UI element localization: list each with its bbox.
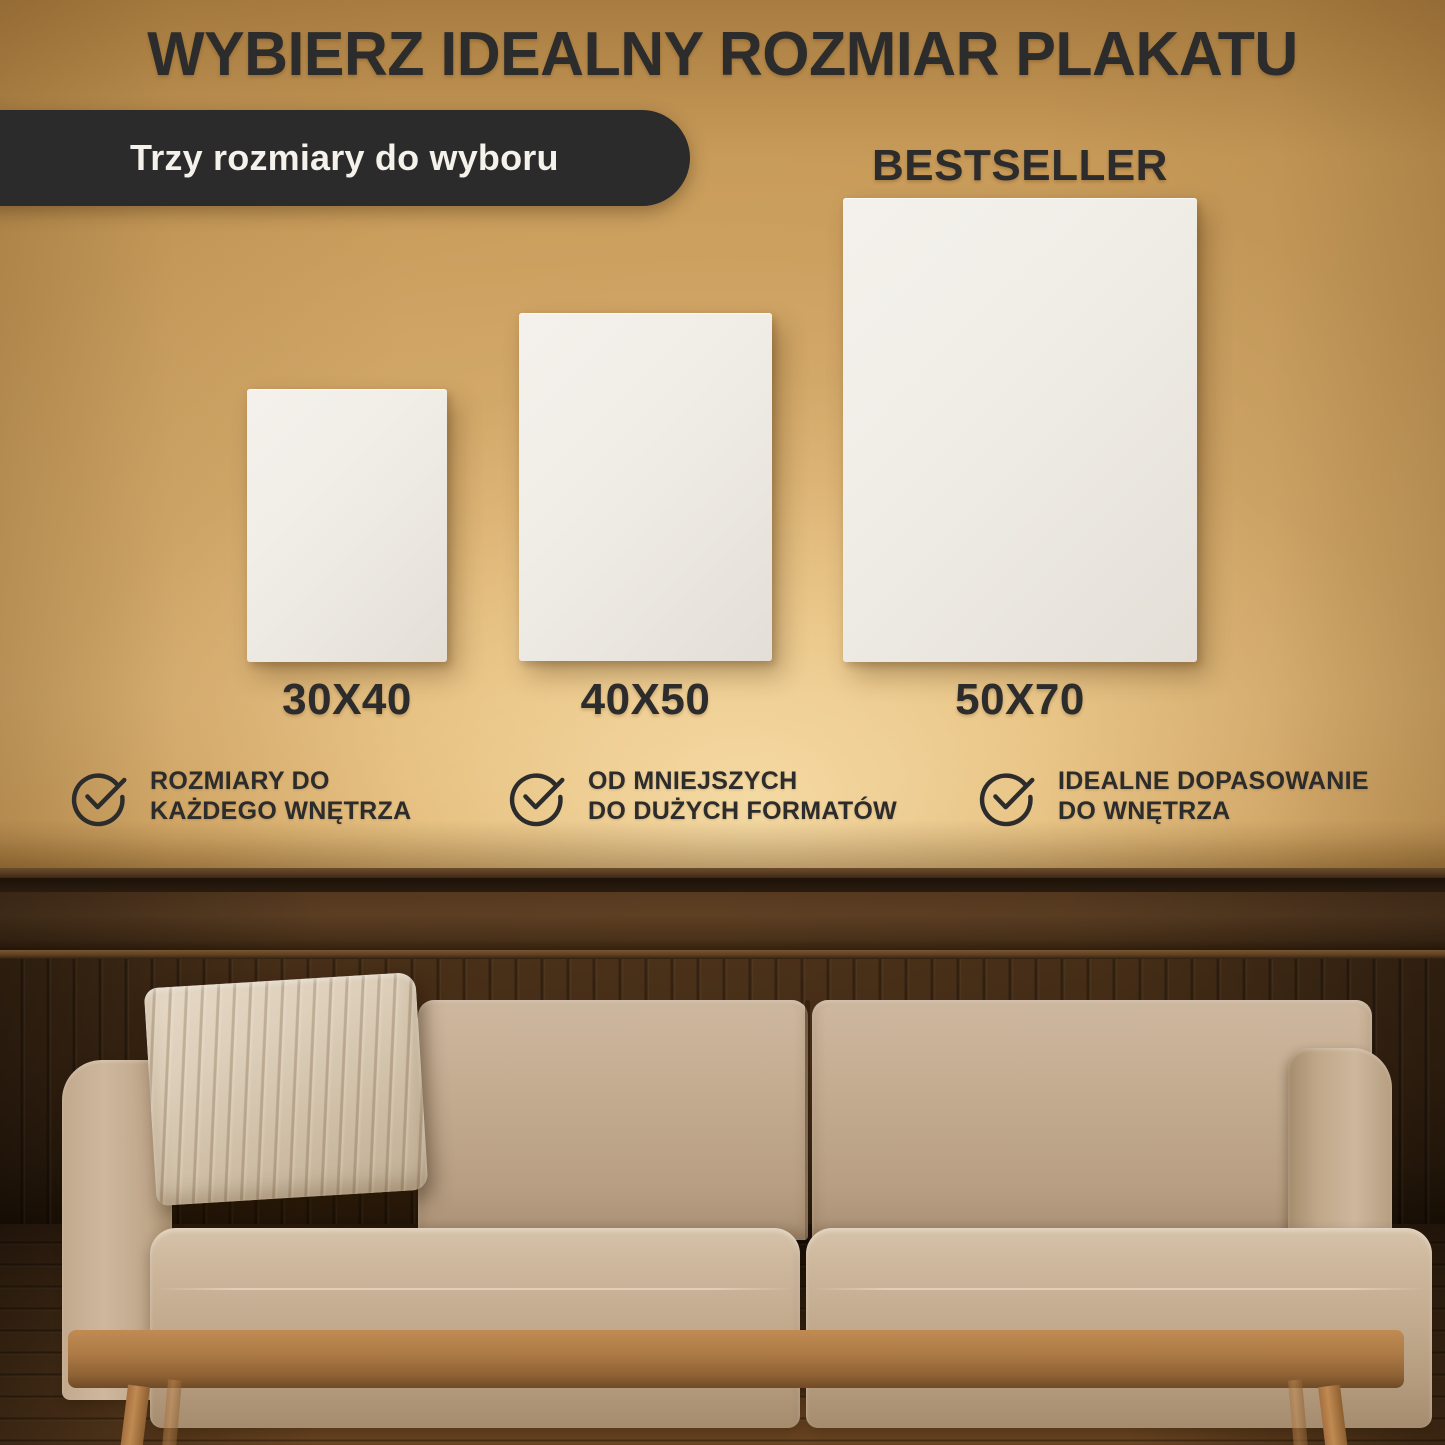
subtitle-badge: Trzy rozmiary do wyboru <box>0 110 690 206</box>
sofa-base-rail <box>68 1330 1404 1388</box>
poster-frame-30x40[interactable] <box>247 389 447 662</box>
page-title: WYBIERZ IDEALNY ROZMIAR PLAKATU <box>14 20 1430 90</box>
feature-label-2: OD MNIEJSZYCH DO DUŻYCH FORMATÓW <box>588 766 897 826</box>
feature-label-3: IDEALNE DOPASOWANIE DO WNĘTRZA <box>1058 766 1369 826</box>
check-circle-icon <box>978 765 1040 827</box>
poster-frame-50x70[interactable] <box>843 198 1197 662</box>
bestseller-badge: BESTSELLER <box>843 140 1197 192</box>
feature-item-2: OD MNIEJSZYCH DO DUŻYCH FORMATÓW <box>508 765 938 827</box>
subtitle-badge-label: Trzy rozmiary do wyboru <box>130 110 559 206</box>
sofa-backrest-left <box>418 1000 808 1240</box>
check-circle-icon <box>70 765 132 827</box>
wall-molding-lip <box>0 950 1445 959</box>
throw-pillow <box>144 972 429 1206</box>
feature-label-1: ROZMIARY DO KAŻDEGO WNĘTRZA <box>150 766 411 826</box>
feature-item-1: ROZMIARY DO KAŻDEGO WNĘTRZA <box>70 765 490 827</box>
size-label-50x70: 50X70 <box>843 674 1197 726</box>
wall-molding-top <box>0 868 1445 878</box>
wall-molding-shadow-line <box>0 878 1445 892</box>
poster-size-guide-graphic: WYBIERZ IDEALNY ROZMIAR PLAKATU Trzy roz… <box>0 0 1445 1445</box>
sofa-backrest-seam <box>805 1000 810 1240</box>
poster-frame-40x50[interactable] <box>519 313 772 661</box>
check-circle-icon <box>508 765 570 827</box>
feature-item-3: IDEALNE DOPASOWANIE DO WNĘTRZA <box>978 765 1428 827</box>
size-label-30x40: 30X40 <box>247 674 447 726</box>
size-label-40x50: 40X50 <box>519 674 772 726</box>
sofa-seat-cushion-left <box>150 1228 800 1428</box>
wall-molding-body <box>0 892 1445 950</box>
